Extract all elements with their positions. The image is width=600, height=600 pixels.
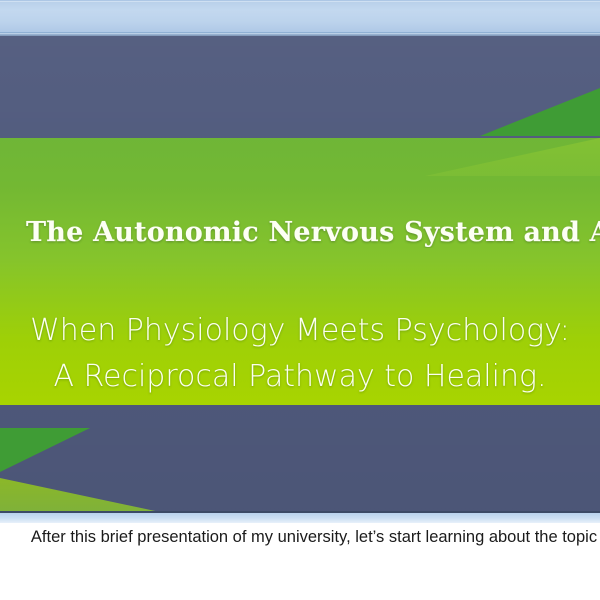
chrome-highlight-line [0,1,600,2]
slide-title: The Autonomic Nervous System and Anxiety [0,217,600,248]
caption-separator-bar [0,513,600,523]
slide-subtitle: When Physiology Meets Psychology: A Reci… [0,308,600,400]
window-chrome-top-bar [0,0,600,33]
caption-line-text: After this brief presentation of my univ… [31,528,597,547]
slide-subtitle-line-2: A Reciprocal Pathway to Healing. [0,354,600,400]
slide-subtitle-line-1: When Physiology Meets Psychology: [30,313,570,348]
slide-title-text: The Autonomic Nervous System and Anxiety [26,217,600,248]
slide-canvas[interactable]: The Autonomic Nervous System and Anxiety… [0,36,600,512]
caption-line: After this brief presentation of my univ… [0,528,600,547]
presentation-viewer: The Autonomic Nervous System and Anxiety… [0,0,600,600]
